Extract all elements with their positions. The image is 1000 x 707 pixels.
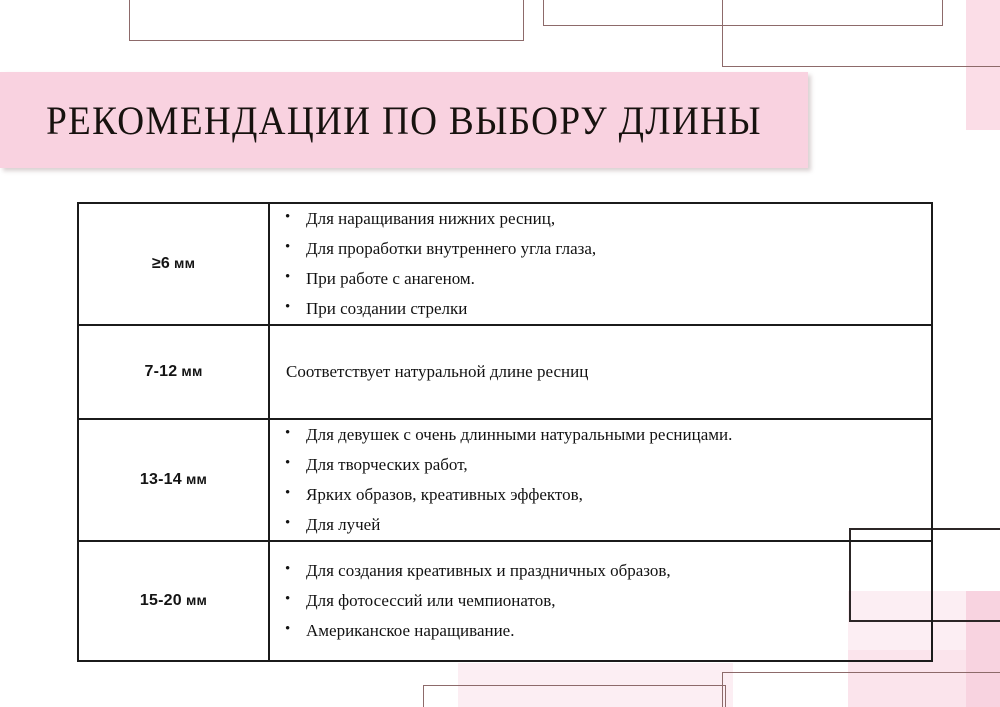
list-item: Для лучей (270, 510, 931, 540)
list-item: При работе с анагеном. (270, 264, 931, 294)
decor-frame-top-right-lower (722, 0, 1000, 67)
decor-frame-top-left (129, 0, 524, 41)
decor-frame-bottom-left (423, 685, 726, 707)
list-item: Для проработки внутреннего угла глаза, (270, 234, 931, 264)
table-row: 7-12 мм Соответствует натуральной длине … (78, 325, 932, 419)
description-cell: Для создания креативных и праздничных об… (269, 541, 932, 661)
length-cell: ≥6 мм (78, 203, 269, 325)
list-item: Для создания креативных и праздничных об… (270, 556, 931, 586)
description-cell: Для наращивания нижних ресниц, Для прора… (269, 203, 932, 325)
length-cell: 15-20 мм (78, 541, 269, 661)
decor-frame-bottom-right (722, 672, 1000, 707)
recommendations-table: ≥6 мм Для наращивания нижних ресниц, Для… (77, 202, 933, 662)
length-unit: мм (174, 255, 195, 271)
length-value: 15-20 (140, 592, 182, 609)
list-item: Для фотосессий или чемпионатов, (270, 586, 931, 616)
length-unit: мм (181, 363, 202, 379)
list-item: Для творческих работ, (270, 450, 931, 480)
length-cell: 13-14 мм (78, 419, 269, 541)
list-item: Американское наращивание. (270, 616, 931, 646)
description-cell: Для девушек с очень длинными натуральным… (269, 419, 932, 541)
title-banner: РЕКОМЕНДАЦИИ ПО ВЫБОРУ ДЛИНЫ (0, 72, 808, 168)
list-item: Для наращивания нижних ресниц, (270, 204, 931, 234)
length-unit: мм (186, 592, 207, 608)
slide-canvas: РЕКОМЕНДАЦИИ ПО ВЫБОРУ ДЛИНЫ ≥6 мм Для н… (0, 0, 1000, 707)
list-item: Ярких образов, креативных эффектов, (270, 480, 931, 510)
list-item: Для девушек с очень длинными натуральным… (270, 420, 931, 450)
description-text: Соответствует натуральной длине ресниц (270, 358, 931, 386)
page-title: РЕКОМЕНДАЦИИ ПО ВЫБОРУ ДЛИНЫ (28, 72, 779, 168)
table-row: 15-20 мм Для создания креативных и празд… (78, 541, 932, 661)
table-row: 13-14 мм Для девушек с очень длинными на… (78, 419, 932, 541)
list-item: При создании стрелки (270, 294, 931, 324)
length-unit: мм (186, 471, 207, 487)
length-cell: 7-12 мм (78, 325, 269, 419)
description-cell: Соответствует натуральной длине ресниц (269, 325, 932, 419)
bullet-list: Для наращивания нижних ресниц, Для прора… (270, 204, 931, 324)
length-value: 13-14 (140, 471, 182, 488)
length-value: 7-12 (144, 363, 177, 380)
table-row: ≥6 мм Для наращивания нижних ресниц, Для… (78, 203, 932, 325)
length-value: ≥6 (152, 255, 170, 272)
bullet-list: Для девушек с очень длинными натуральным… (270, 420, 931, 540)
bullet-list: Для создания креативных и праздничных об… (270, 556, 931, 646)
